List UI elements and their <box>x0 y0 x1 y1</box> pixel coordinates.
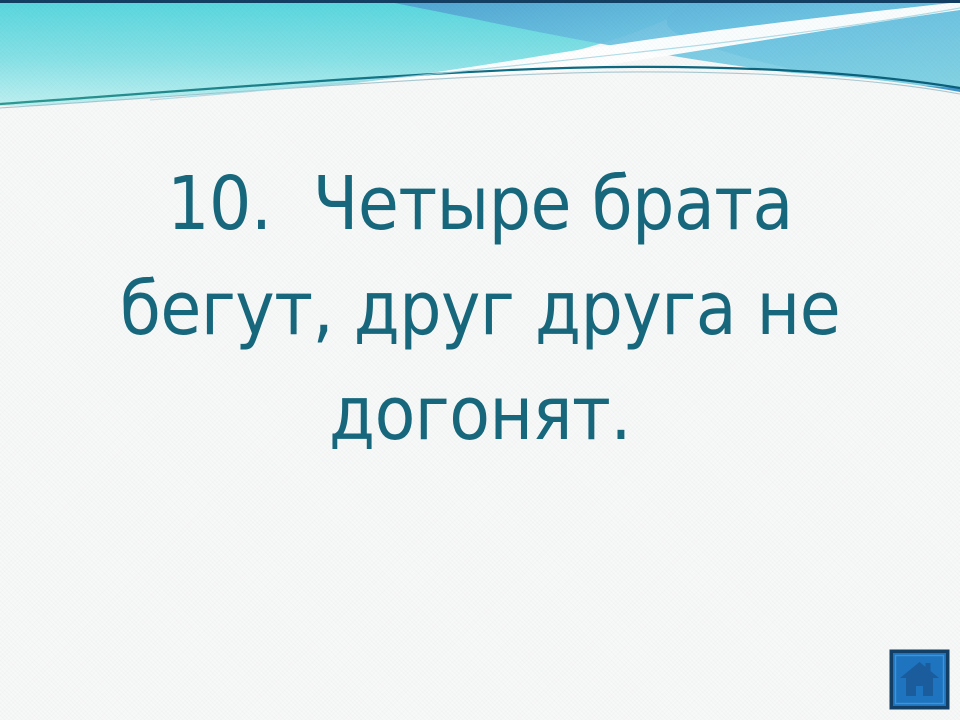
decorative-wave-band <box>0 0 960 120</box>
slide-canvas: 10. Четыре брата бегут, друг друга не до… <box>0 0 960 720</box>
top-edge-rule <box>0 0 960 3</box>
riddle-text: 10. Четыре брата бегут, друг друга не до… <box>65 152 895 467</box>
home-button[interactable] <box>889 649 950 710</box>
home-icon-door <box>916 686 923 696</box>
